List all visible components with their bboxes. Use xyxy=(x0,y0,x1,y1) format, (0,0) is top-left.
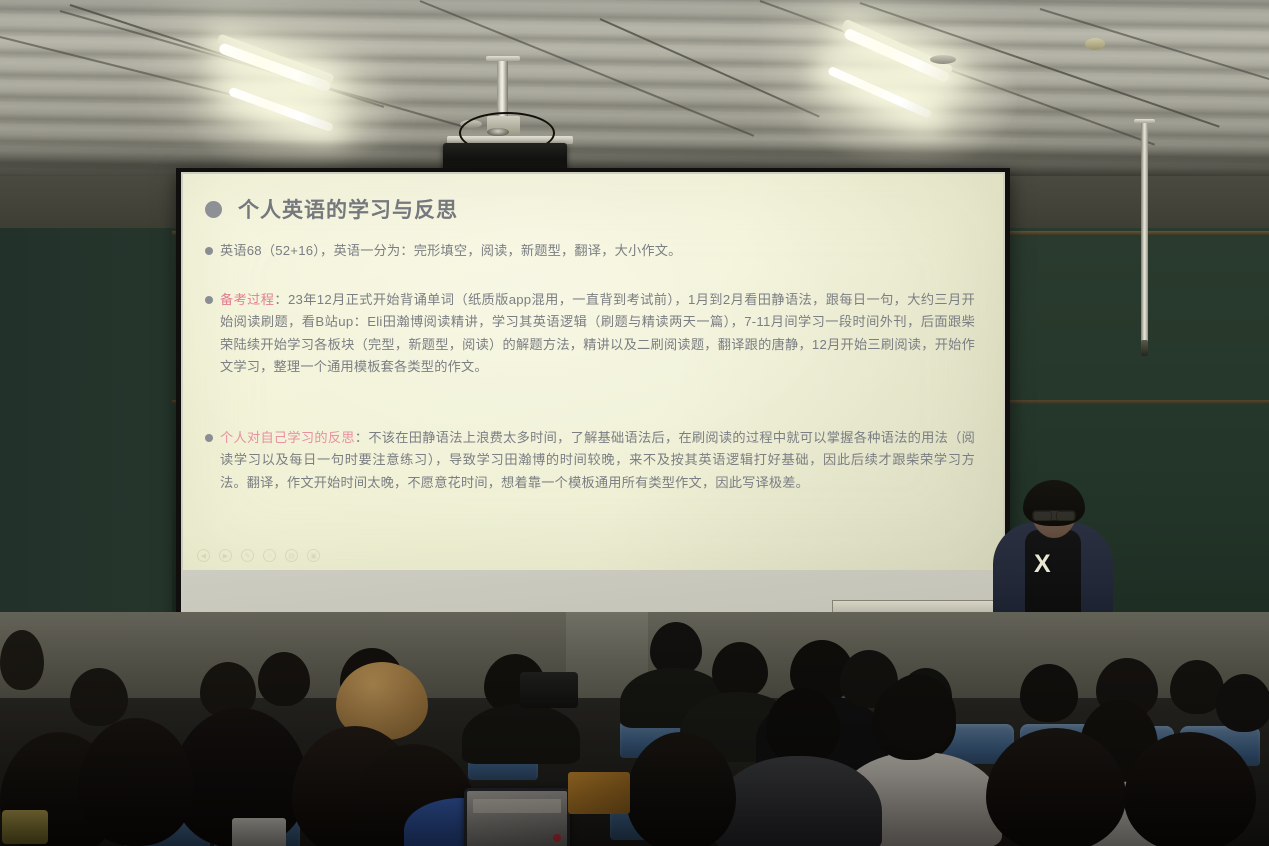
audience-head xyxy=(0,630,44,690)
audience-head xyxy=(70,668,128,726)
hanging-rod-ceiling-plate xyxy=(1134,119,1155,123)
projector-lens xyxy=(487,128,509,136)
presenter: X xyxy=(985,478,1135,628)
slide-title-row: 个人英语的学习与反思 xyxy=(205,194,975,224)
slide-bullet-reflection-text: 个人对自己学习的反思：不该在田静语法上浪费太多时间，了解基础语法后，在刷阅读的过… xyxy=(220,427,975,495)
ppt-next-icon[interactable]: ▶ xyxy=(219,549,232,562)
bullet-preparation-highlight: 备考过程 xyxy=(220,292,274,307)
ppt-zoom-icon[interactable]: ▣ xyxy=(307,549,320,562)
projector-ceiling-plate xyxy=(486,56,520,61)
tablet-screen-content xyxy=(473,799,561,813)
slide-bullet-score-text: 英语68（52+16），英语一分为：完形填空，阅读，新题型，翻译，大小作文。 xyxy=(220,240,682,263)
ceiling xyxy=(0,0,1269,185)
ppt-pen-icon[interactable]: ✎ xyxy=(241,549,254,562)
audience-head xyxy=(766,688,840,764)
slide-bullet-score: 英语68（52+16），英语一分为：完形填空，阅读，新题型，翻译，大小作文。 xyxy=(205,240,975,263)
ppt-grid-icon[interactable]: ▤ xyxy=(285,549,298,562)
projector-mount-pole xyxy=(497,60,508,118)
lecture-hall-photo: 个人英语的学习与反思 英语68（52+16），英语一分为：完形填空，阅读，新题型… xyxy=(0,0,1269,846)
audience-shoulders xyxy=(462,704,580,764)
bullet-score-body: 英语68（52+16），英语一分为：完形填空，阅读，新题型，翻译，大小作文。 xyxy=(220,243,682,258)
audience-head xyxy=(1216,674,1269,732)
presentation-slide[interactable]: 个人英语的学习与反思 英语68（52+16），英语一分为：完形填空，阅读，新题型… xyxy=(183,174,1003,570)
slide-bullet-reflection: 个人对自己学习的反思：不该在田静语法上浪费太多时间，了解基础语法后，在刷阅读的过… xyxy=(205,427,975,495)
left-side-wall xyxy=(0,228,172,648)
slide-bullet-preparation-text: 备考过程：23年12月正式开始背诵单词（纸质版app混用，一直背到考试前），1月… xyxy=(220,289,975,379)
hanging-rod xyxy=(1141,122,1148,344)
ceiling-fitting xyxy=(1085,38,1105,50)
bullet-dot-icon xyxy=(205,434,213,442)
slide-content: 个人英语的学习与反思 英语68（52+16），英语一分为：完形填空，阅读，新题型… xyxy=(183,174,1003,494)
audience-head xyxy=(1020,664,1078,722)
bag xyxy=(2,810,48,844)
bullet-dot-icon xyxy=(205,296,213,304)
audience-head xyxy=(880,674,956,752)
presenter-shirt-logo: X xyxy=(1034,552,1050,577)
hanging-rod-tip xyxy=(1141,340,1148,356)
ppt-home-icon[interactable]: ⌂ xyxy=(263,549,276,562)
bullet-dot-icon xyxy=(205,247,213,255)
presenter-glasses-icon xyxy=(1032,510,1076,521)
ppt-prev-icon[interactable]: ◀ xyxy=(197,549,210,562)
audience-seating-area xyxy=(0,612,1269,846)
audience-head-foreground xyxy=(78,718,194,846)
tablet-record-indicator xyxy=(553,834,561,842)
ppt-control-bar[interactable]: ◀ ▶ ✎ ⌂ ▤ ▣ xyxy=(197,549,320,562)
tablet-screen[interactable] xyxy=(467,791,567,846)
backpack xyxy=(520,672,578,708)
slide-bullet-preparation: 备考过程：23年12月正式开始背诵单词（纸质版app混用，一直背到考试前），1月… xyxy=(205,289,975,379)
paper-sheet xyxy=(232,818,286,846)
slide-title: 个人英语的学习与反思 xyxy=(238,194,458,224)
plaid-bag xyxy=(568,772,630,814)
audience-head xyxy=(258,652,310,706)
bullet-reflection-highlight: 个人对自己学习的反思 xyxy=(220,430,355,445)
smoke-detector xyxy=(930,55,956,64)
bullet-preparation-body: ：23年12月正式开始背诵单词（纸质版app混用，一直背到考试前），1月到2月看… xyxy=(220,292,975,375)
bullet-large-icon xyxy=(205,201,222,218)
audience-head xyxy=(712,642,768,698)
tablet-device[interactable] xyxy=(464,788,570,846)
